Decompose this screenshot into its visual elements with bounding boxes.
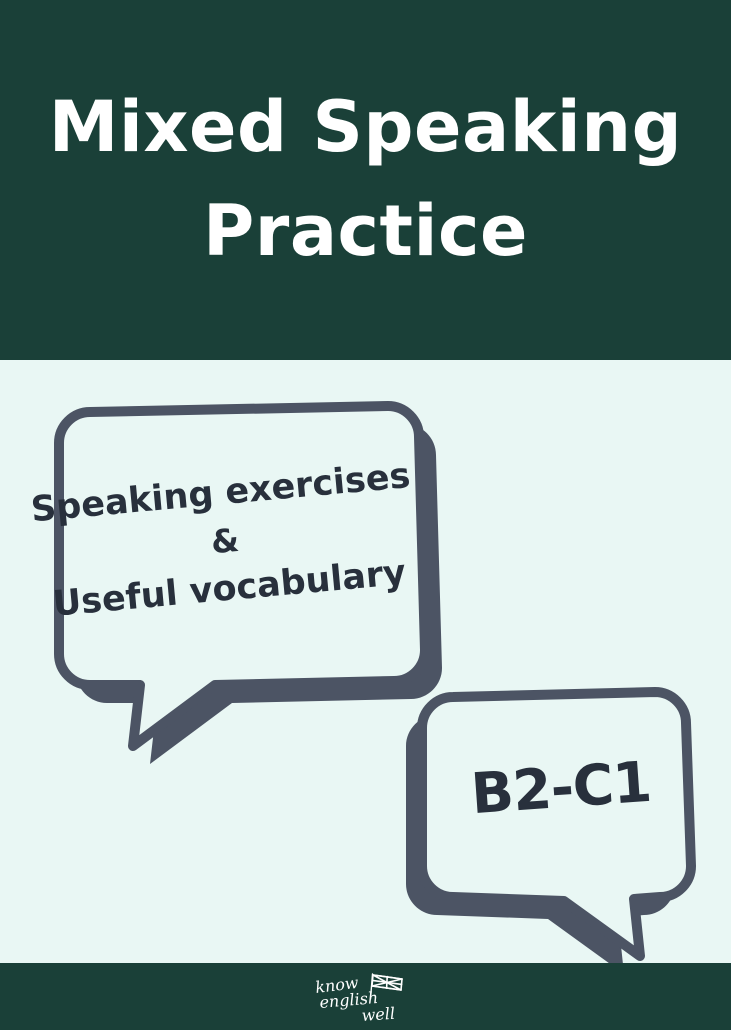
worksheet-cover-page: Mixed Speaking Practice Speaking exercis… [0, 0, 731, 1030]
header-banner: Mixed Speaking Practice [0, 0, 731, 360]
speaking-exercises-bubble: Speaking exercises & Useful vocabulary [14, 398, 434, 743]
brand-logo-line-3: well [360, 1003, 395, 1024]
cover-body: Speaking exercises & Useful vocabulary B… [0, 360, 731, 963]
level-bubble: B2-C1 [396, 680, 708, 965]
speech-bubble-outline-icon [14, 398, 434, 743]
page-title-line-1: Mixed Speaking [49, 75, 682, 179]
footer-banner: know english well [0, 963, 731, 1030]
speech-bubble-outline-icon [396, 680, 708, 965]
page-title-line-2: Practice [203, 179, 528, 283]
brand-logo[interactable]: know english well [310, 969, 422, 1025]
